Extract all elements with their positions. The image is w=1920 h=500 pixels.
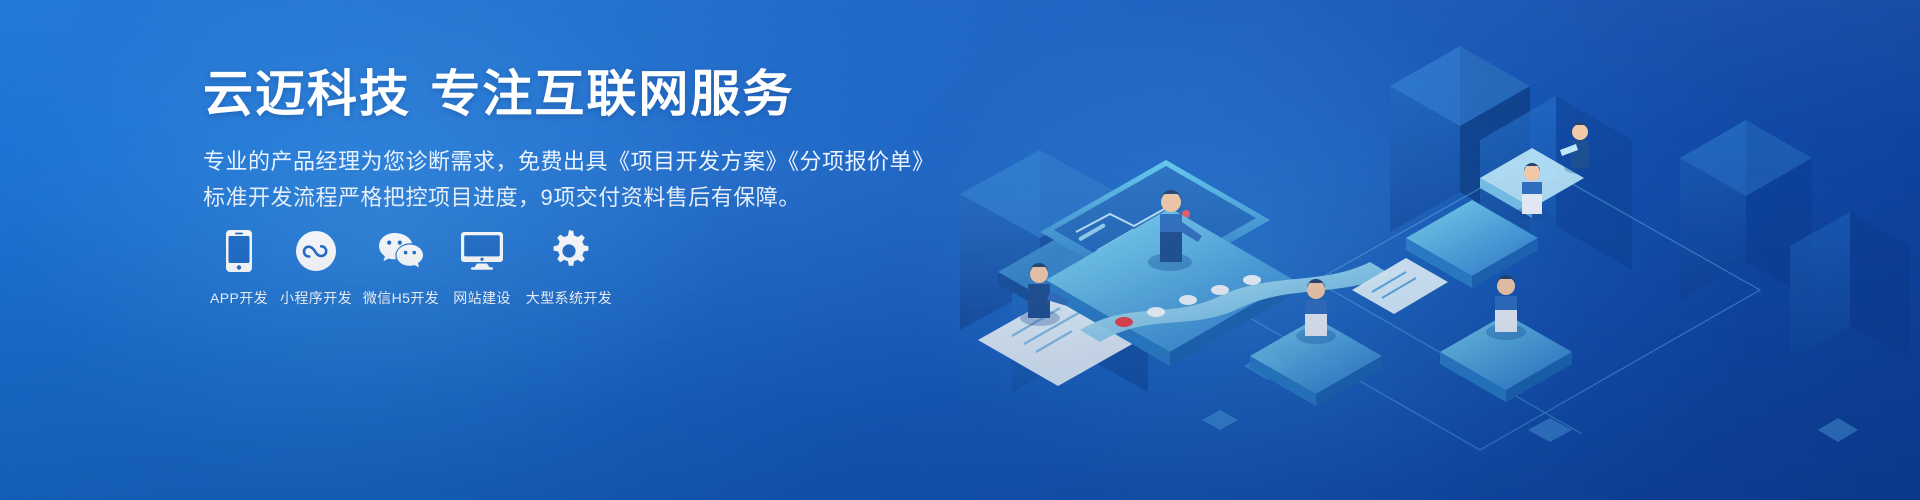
service-label: 小程序开发 <box>280 288 352 308</box>
background-glow-right <box>760 0 1740 500</box>
service-label: 网站建设 <box>453 288 511 308</box>
page-title: 云迈科技 专注互联网服务 <box>203 66 903 122</box>
gear-icon <box>548 228 590 274</box>
monitor-icon <box>461 228 503 274</box>
mini-program-icon <box>296 228 336 274</box>
hero-subtitle: 专业的产品经理为您诊断需求，免费出具《项目开发方案》《分项报价单》 标准开发流程… <box>203 144 903 215</box>
subtitle-line-1: 专业的产品经理为您诊断需求，免费出具《项目开发方案》《分项报价单》 <box>203 144 903 180</box>
service-item-app[interactable]: APP开发 <box>203 228 275 308</box>
hero-banner: 云迈科技 专注互联网服务 专业的产品经理为您诊断需求，免费出具《项目开发方案》《… <box>0 0 1920 500</box>
service-item-miniprogram[interactable]: 小程序开发 <box>275 228 357 308</box>
service-item-website[interactable]: 网站建设 <box>445 228 519 308</box>
service-label: 大型系统开发 <box>526 288 612 308</box>
service-item-wechat-h5[interactable]: 微信H5开发 <box>357 228 445 308</box>
service-label: APP开发 <box>210 288 268 308</box>
subtitle-line-2: 标准开发流程严格把控项目进度，9项交付资料售后有保障。 <box>203 180 903 216</box>
hero-content: 云迈科技 专注互联网服务 专业的产品经理为您诊断需求，免费出具《项目开发方案》《… <box>203 66 903 215</box>
service-label: 微信H5开发 <box>363 288 439 308</box>
service-item-large-system[interactable]: 大型系统开发 <box>519 228 619 308</box>
wechat-icon <box>378 228 424 274</box>
mobile-phone-icon <box>226 228 252 274</box>
illustration <box>920 0 1920 500</box>
service-list: APP开发 小程序开发 微信 <box>203 228 619 308</box>
